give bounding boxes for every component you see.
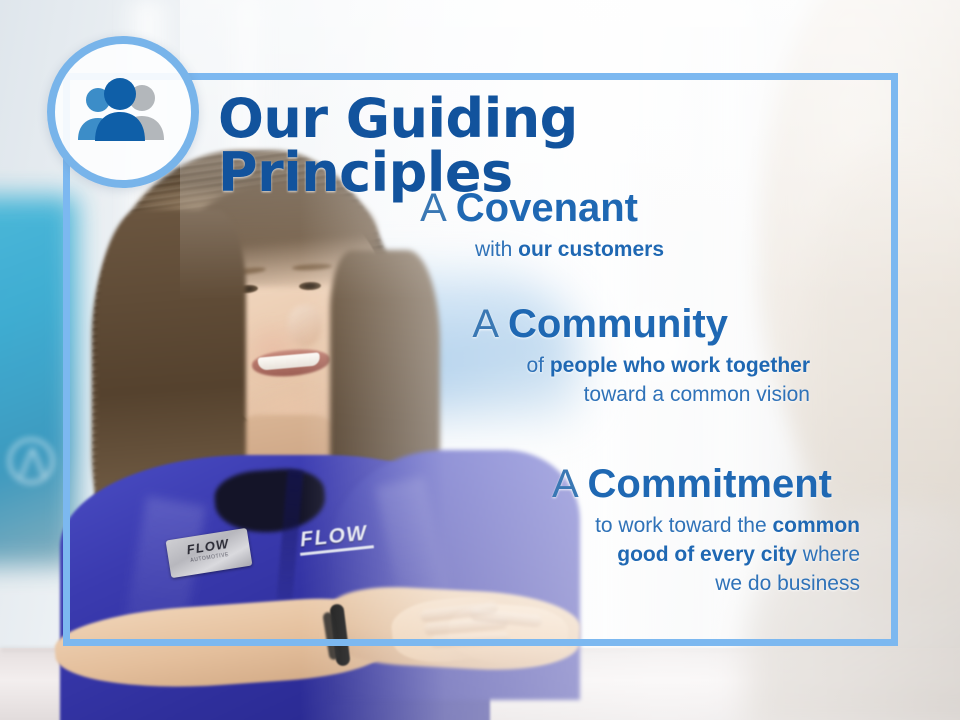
- principle-block-covenant: A Covenant with our customers: [0, 188, 860, 265]
- principle-headline: A Covenant: [0, 188, 860, 230]
- principle-subtext: with our customers: [0, 236, 860, 265]
- principle-subtext: to work toward the commongood of every c…: [0, 512, 860, 599]
- principle-emphasis: our customers: [518, 238, 664, 261]
- principle-keyword: Covenant: [456, 186, 638, 230]
- principle-text: with: [475, 238, 518, 261]
- principle-article: A: [552, 462, 588, 506]
- principle-text: to work toward the: [595, 514, 772, 537]
- banner-copy: Our Guiding Principles A Covenant with o…: [0, 0, 960, 720]
- principle-subtext: of people who work togethertoward a comm…: [0, 352, 860, 410]
- principle-keyword: Community: [508, 302, 728, 346]
- principle-text: we do business: [715, 572, 860, 595]
- principle-keyword: Commitment: [588, 462, 832, 506]
- principle-emphasis: common: [772, 514, 860, 537]
- principle-block-community: A Community of people who work togethert…: [0, 304, 860, 410]
- principle-article: A: [472, 302, 508, 346]
- principle-emphasis: good of every city: [617, 543, 797, 566]
- principle-headline: A Commitment: [0, 464, 860, 506]
- page-title: Our Guiding Principles: [218, 92, 878, 200]
- principle-text: toward a common vision: [584, 383, 810, 406]
- guiding-principles-banner: FLOW AUTOMOTIVE FLOW: [0, 0, 960, 720]
- principle-block-commitment: A Commitment to work toward the commongo…: [0, 464, 860, 599]
- principle-article: A: [420, 186, 456, 230]
- principle-text: where: [797, 543, 860, 566]
- principle-emphasis: people who work together: [550, 354, 810, 377]
- principle-text: of: [526, 354, 549, 377]
- principle-headline: A Community: [0, 304, 860, 346]
